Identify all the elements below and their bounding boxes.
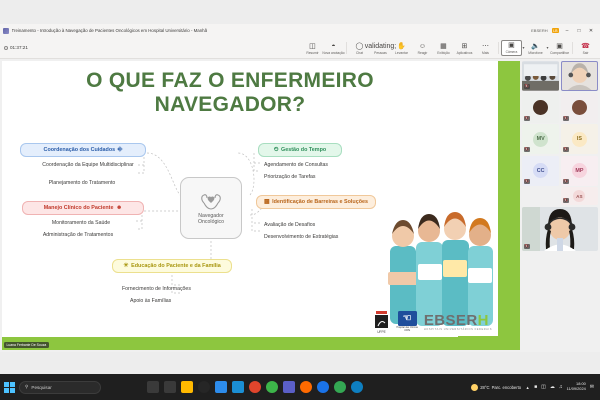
- roster-row: 🔇: [522, 207, 598, 251]
- participant-photo-tile-1[interactable]: 🔇: [522, 93, 559, 123]
- participant-tile-cc[interactable]: CC 🔇: [522, 156, 559, 186]
- slide-title-line1: O QUE FAZ O ENFERMEIRO: [2, 69, 458, 93]
- ebserh-wordmark: EBSERH: [424, 313, 492, 328]
- slide-accent-band-right: [498, 61, 520, 350]
- avatar: [572, 100, 587, 115]
- widgets-icon[interactable]: [164, 381, 176, 393]
- leave-label: Sair: [583, 51, 589, 55]
- people-button[interactable]: validating; Pessoas: [370, 42, 391, 56]
- new-note-icon: ◓: [331, 43, 335, 51]
- edge-icon[interactable]: [351, 381, 363, 393]
- raise-hand-icon: ✋: [397, 43, 406, 51]
- participants-roster[interactable]: 🔇: [522, 61, 598, 350]
- avatar-initials: IS: [572, 132, 587, 147]
- node-3-bullet-0: Avaliação de Desafios: [264, 221, 315, 229]
- tray-chevron-up-icon[interactable]: ▲: [526, 385, 530, 390]
- clock[interactable]: 18:00 11/09/2024: [567, 382, 586, 391]
- browser-icon[interactable]: [266, 381, 278, 393]
- node-educacao-do-paciente[interactable]: ☀ Educação do Paciente e da Família: [112, 259, 232, 273]
- slide-title-line2: NAVEGADOR?: [2, 93, 458, 117]
- roster-row: 🔇: [522, 61, 598, 91]
- camera-icon: ▣: [508, 42, 515, 50]
- node-label: Educação do Paciente e da Família: [131, 263, 221, 270]
- spacer-tile: [522, 187, 559, 205]
- roster-row: MV 🔇 IS 🔇: [522, 124, 598, 154]
- ufpe-logo-text: UFPE: [378, 330, 387, 334]
- education-icon: ☀: [123, 263, 128, 269]
- presenter-video-tile[interactable]: 🔇: [522, 207, 598, 251]
- mic-muted-icon: 🔇: [524, 84, 530, 89]
- mic-muted-icon: 🔇: [524, 116, 530, 121]
- teams-icon[interactable]: [283, 381, 295, 393]
- node-gestao-do-tempo[interactable]: ⏲ Gestão do Tempo: [258, 143, 342, 157]
- meeting-timer: 01:37:21: [4, 45, 28, 50]
- system-tray: 28°C Parc. encoberto ▲ ■ ◫ ☁ ♫ 18:00 11/…: [471, 382, 596, 391]
- people-label: Pessoas: [374, 51, 387, 55]
- search-icon: ⚲: [25, 384, 28, 390]
- leave-button[interactable]: ☎ Sair: [575, 42, 596, 56]
- participant-tile-mv[interactable]: MV 🔇: [522, 124, 559, 154]
- barrier-icon: ▩: [264, 199, 270, 205]
- record-icon: [4, 46, 8, 50]
- close-button[interactable]: ✕: [587, 28, 595, 34]
- notifications-icon[interactable]: ✉: [590, 384, 594, 390]
- mic-muted-icon: 🔇: [563, 116, 569, 121]
- mic-muted-icon: 🔇: [524, 244, 530, 249]
- ufpe-logo: UFPE: [373, 310, 390, 334]
- mic-muted-icon: 🔇: [524, 179, 530, 184]
- taskbar-apps: [147, 381, 363, 393]
- more-ellipsis-icon: ⋯: [482, 43, 489, 51]
- mail-icon[interactable]: [232, 381, 244, 393]
- shared-content-slide[interactable]: O QUE FAZ O ENFERMEIRO NAVEGADOR?: [2, 61, 520, 350]
- node-label: Coordenação dos Cuidados: [44, 147, 116, 154]
- summarize-button[interactable]: ◫ Resumir: [302, 42, 323, 56]
- node-1-bullet-0: Monitoramento da Saúde: [22, 219, 140, 227]
- weather-text: Parc. encoberto: [492, 385, 522, 390]
- timer-value: 01:37:21: [10, 45, 28, 50]
- weather-icon: [471, 384, 478, 391]
- titlebar-right-group: EBSERH LB – □ ✕: [531, 28, 597, 34]
- slide-accent-band-bottom: [2, 336, 520, 350]
- network-icon[interactable]: ◫: [541, 384, 546, 390]
- node-0-bullet-0: Coordenação da Equipe Multidisciplinar: [32, 161, 144, 169]
- raise-hand-button[interactable]: ✋ Levantar: [391, 42, 412, 56]
- apps-label: Aplicativos: [457, 51, 473, 55]
- roster-row: CC 🔇 MP 🔇: [522, 156, 598, 186]
- avatar: [533, 100, 548, 115]
- avatar-initials: MV: [533, 132, 548, 147]
- node-2-bullet-1: Priorização de Tarefas: [264, 173, 316, 181]
- toolbar-divider-3: [572, 42, 573, 54]
- ebserh-word-a: EBSER: [424, 312, 478, 329]
- chrome-icon[interactable]: [334, 381, 346, 393]
- view-button[interactable]: ▦ Exibição: [433, 42, 454, 56]
- toolbar-divider: [346, 42, 347, 54]
- volume-icon[interactable]: ♫: [559, 384, 563, 390]
- toolbar-divider-2: [498, 42, 499, 54]
- node-4-bullet-0: Fornecimento de Informações: [122, 285, 191, 293]
- teams-meeting-window: Treinamento - Introdução à Navegação de …: [0, 24, 600, 352]
- center-node-label: Navegador Oncológico: [198, 213, 224, 226]
- search-placeholder: Pesquisar: [31, 385, 51, 390]
- node-label: Manejo Clínico do Paciente: [44, 205, 114, 212]
- mindmap-center-node[interactable]: Navegador Oncológico: [180, 177, 242, 239]
- node-label: Gestão do Tempo: [281, 147, 326, 154]
- store-icon[interactable]: [215, 381, 227, 393]
- apps-button[interactable]: ⊞ Aplicativos: [454, 42, 475, 56]
- desktop: Treinamento - Introdução à Navegação de …: [0, 0, 600, 400]
- mic-muted-icon: 🔇: [563, 198, 569, 203]
- node-label: Identificação de Barreiras e Soluções: [272, 199, 368, 206]
- new-note-button[interactable]: ◓ Nova anotação: [323, 42, 344, 56]
- chat-label: Chat: [356, 51, 363, 55]
- notes-icon: ◫: [309, 43, 316, 51]
- avatar-initials: MP: [572, 163, 587, 178]
- camera-button[interactable]: ▣ Câmera: [501, 40, 522, 56]
- user-avatar[interactable]: LB: [552, 28, 559, 33]
- center-label-line2: Oncológico: [198, 219, 224, 226]
- view-label: Exibição: [437, 51, 449, 55]
- meeting-stage: O QUE FAZ O ENFERMEIRO NAVEGADOR?: [0, 59, 600, 352]
- participant-photo-tile-2[interactable]: 🔇: [561, 93, 598, 123]
- summarize-label: Resumir: [306, 51, 318, 55]
- raise-hand-label: Levantar: [395, 51, 408, 55]
- share-screen-icon: ▣: [556, 43, 563, 51]
- slide-logos: UFPE ☜ Hospital das Clínicas UFPE EBSERH: [373, 310, 492, 334]
- react-label: Reagir: [418, 51, 428, 55]
- mic-muted-icon: 🔇: [563, 179, 569, 184]
- microphone-label: Microfone: [528, 51, 542, 55]
- microphone-icon: 🔈: [531, 43, 540, 51]
- hc-mark-icon: ☜: [398, 311, 417, 326]
- view-grid-icon: ▦: [440, 43, 447, 51]
- node-manejo-clinico-do-paciente[interactable]: Manejo Clínico do Paciente ☻: [22, 201, 144, 215]
- node-identificacao-de-barreiras[interactable]: ▩ Identificação de Barreiras e Soluções: [256, 195, 376, 209]
- slide-canvas: O QUE FAZ O ENFERMEIRO NAVEGADOR?: [2, 61, 520, 350]
- hospital-das-clinicas-logo: ☜ Hospital das Clínicas UFPE: [396, 311, 417, 333]
- handshake-icon: ⎆: [118, 147, 123, 153]
- react-button[interactable]: ☺ Reagir: [412, 42, 433, 56]
- record-app-icon[interactable]: [198, 381, 210, 393]
- participant-tile-is[interactable]: IS 🔇: [561, 124, 598, 154]
- meeting-toolbar: 01:37:21 ◫ Resumir ◓ Nova anotação ◯ Cha…: [0, 37, 600, 59]
- battery-icon[interactable]: ■: [534, 384, 537, 390]
- hangup-icon: ☎: [581, 43, 590, 51]
- hc-caption-line2: UFPE: [396, 330, 417, 333]
- search-input[interactable]: ⚲ Pesquisar: [19, 381, 101, 394]
- chat-icon: ◯: [356, 43, 364, 51]
- mic-muted-icon: 🔇: [524, 147, 530, 152]
- avatar-initials: CC: [533, 163, 548, 178]
- task-view-icon[interactable]: [147, 381, 159, 393]
- mic-muted-icon: 🔇: [563, 147, 569, 152]
- firefox-icon[interactable]: [300, 381, 312, 393]
- minimize-button[interactable]: –: [563, 28, 571, 34]
- ebserh-word-b: H: [478, 312, 489, 329]
- meet-icon[interactable]: [317, 381, 329, 393]
- window-title: Treinamento - Introdução à Navegação de …: [12, 28, 208, 33]
- patient-icon: ☻: [116, 205, 122, 211]
- slide-title: O QUE FAZ O ENFERMEIRO NAVEGADOR?: [2, 69, 458, 117]
- pdf-icon[interactable]: [249, 381, 261, 393]
- weather-widget[interactable]: 28°C Parc. encoberto: [471, 384, 521, 391]
- share-button[interactable]: ▣ Compartilhar: [549, 42, 570, 56]
- org-label: EBSERH: [531, 28, 547, 33]
- reactions-icon: ☺: [419, 43, 426, 51]
- avatar-initials: AS: [573, 190, 585, 202]
- onedrive-icon[interactable]: ☁: [550, 384, 555, 390]
- clock-flow-icon: ⏲: [274, 147, 279, 153]
- apps-plus-icon: ⊞: [462, 43, 468, 51]
- ebserh-tagline: HOSPITAIS UNIVERSITÁRIOS FEDERAIS: [424, 328, 492, 331]
- more-label: Mais: [482, 51, 489, 55]
- node-1-bullet-1: Administração de Tratamentos: [14, 231, 142, 239]
- microphone-button[interactable]: 🔈 Microfone: [525, 42, 546, 56]
- roster-row: 🔇 🔇: [522, 93, 598, 123]
- participant-tile-mp[interactable]: MP 🔇: [561, 156, 598, 186]
- windows-start-icon[interactable]: [4, 382, 15, 393]
- participant-tile-as[interactable]: AS 🔇: [561, 187, 598, 205]
- ebserh-logo: EBSERH HOSPITAIS UNIVERSITÁRIOS FEDERAIS: [424, 313, 492, 331]
- node-2-bullet-0: Agendamento de Consultas: [264, 161, 328, 169]
- maximize-button[interactable]: □: [575, 28, 583, 34]
- file-explorer-icon[interactable]: [181, 381, 193, 393]
- teams-icon: [3, 28, 9, 34]
- new-note-label: Nova anotação: [322, 51, 344, 55]
- mindmap-diagram: Navegador Oncológico Coordenação dos Cui…: [2, 123, 458, 313]
- node-0-bullet-1: Planejamento do Tratamento: [20, 179, 144, 187]
- window-titlebar: Treinamento - Introdução à Navegação de …: [0, 24, 600, 37]
- clock-date: 11/09/2024: [567, 387, 586, 392]
- classroom-video-tile[interactable]: 🔇: [522, 61, 559, 91]
- node-4-bullet-1: Apoio às Famílias: [130, 297, 171, 305]
- camera-label: Câmera: [506, 50, 518, 54]
- hands-heart-icon: [200, 191, 222, 211]
- share-label: Compartilhar: [550, 51, 569, 55]
- node-3-bullet-1: Desenvolvimento de Estratégias: [264, 233, 338, 241]
- hc-caption: Hospital das Clínicas UFPE: [396, 327, 417, 333]
- participant-video-tile-1[interactable]: [561, 61, 598, 91]
- meeting-tools: ◫ Resumir ◓ Nova anotação ◯ Chat validat…: [302, 40, 596, 56]
- more-button[interactable]: ⋯ Mais: [475, 42, 496, 56]
- presenter-nametag: Luana Ferbante De Souza: [4, 342, 49, 348]
- windows-taskbar: ⚲ Pesquisar 28°C Parc. encoberto ▲: [0, 374, 600, 400]
- node-coordenacao-dos-cuidados[interactable]: Coordenação dos Cuidados ⎆: [20, 143, 146, 157]
- roster-row: AS 🔇: [522, 187, 598, 205]
- weather-temp: 28°C: [480, 385, 489, 390]
